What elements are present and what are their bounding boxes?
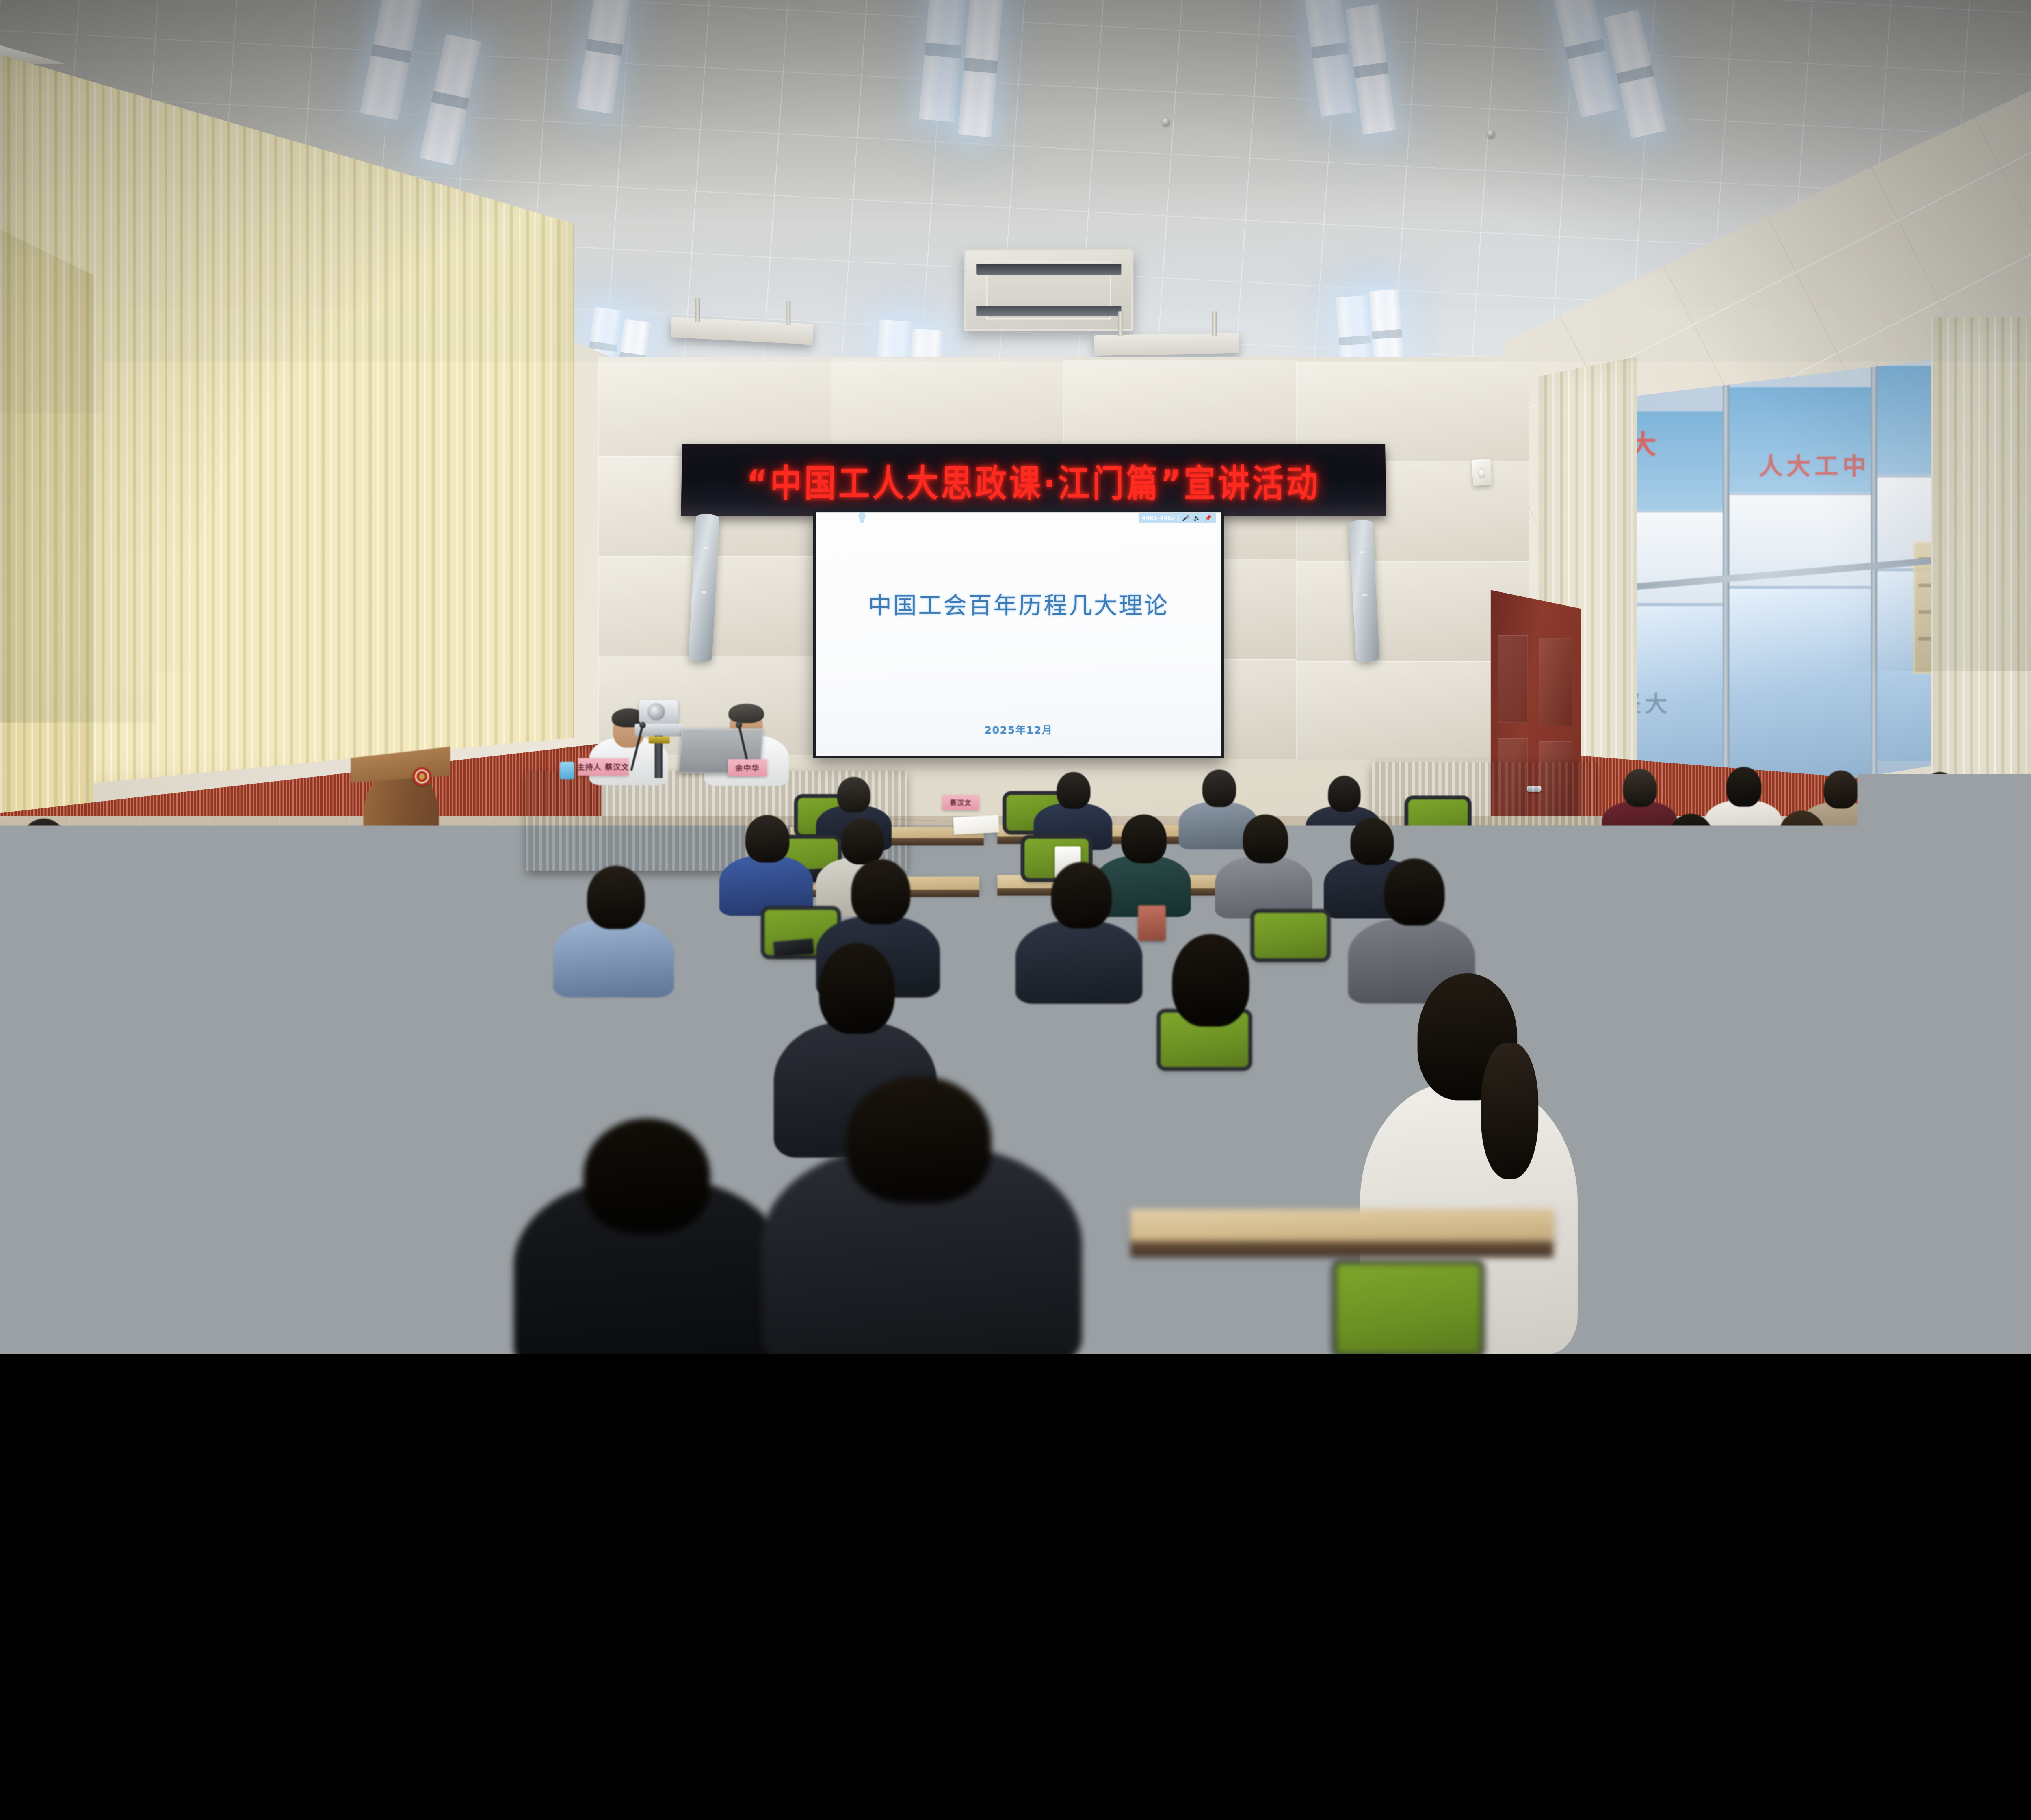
meeting-room-code: 4465-4457 — [1142, 514, 1175, 522]
audience-hair — [1699, 1118, 1838, 1239]
audience-hair — [1328, 776, 1360, 812]
audience-hair — [1623, 769, 1657, 807]
door-panel — [1498, 635, 1528, 723]
audience-hair — [1121, 814, 1167, 863]
window-mullion — [1871, 348, 1877, 819]
audience-hair — [583, 1118, 710, 1233]
audience-hair — [401, 953, 473, 1038]
audience-hair — [1202, 769, 1236, 807]
audience-hair — [1840, 961, 1922, 1064]
lecture-hall-scene: 门大 人大工中 创坚大 “中国工人大思政课·江门篇”宣讲活动 4465-4457… — [0, 0, 2031, 1354]
paper-on-desk — [953, 815, 999, 835]
audience-hair — [1384, 858, 1445, 925]
audience-hair — [819, 943, 894, 1033]
wall-panel — [598, 357, 831, 457]
audience-hair — [1949, 864, 2009, 931]
desk — [0, 1076, 218, 1096]
audience-hair — [837, 777, 870, 812]
water-bottle — [560, 762, 574, 779]
camera-lens-icon — [647, 703, 665, 721]
audience-ponytail — [1481, 1043, 1538, 1179]
audience-hair — [1824, 771, 1858, 809]
audience-body — [0, 918, 103, 995]
audience-hair — [1172, 934, 1249, 1027]
audience-member — [1641, 813, 1737, 914]
paper-on-desk — [190, 940, 248, 961]
wall-panel — [831, 358, 1064, 458]
audience-body — [1015, 921, 1143, 1004]
chair[interactable] — [1693, 913, 1765, 958]
projection-screen: 4465-4457 🎤 🔈 📌 中国工会百年历程几大理论 2025年12月 — [816, 512, 1221, 756]
audience-member-foreground — [762, 1076, 1082, 1354]
meeting-toolbar[interactable]: 4465-4457 🎤 🔈 📌 — [1139, 513, 1216, 523]
window-red-signage-2: 人大工中 — [1759, 447, 1870, 481]
sensor-lens-icon — [1478, 468, 1486, 478]
audience-hair — [587, 866, 645, 929]
audience-hair — [1057, 772, 1090, 809]
audience-hair — [745, 815, 790, 863]
audience-body — [553, 919, 674, 997]
audience-hair — [1778, 811, 1825, 863]
projection-screen-frame: 4465-4457 🎤 🔈 📌 中国工会百年历程几大理论 2025年12月 — [813, 510, 1224, 758]
audience-member — [1215, 813, 1312, 916]
speaker-icon[interactable]: 🔈 — [1193, 515, 1201, 521]
audience-body — [1641, 856, 1737, 917]
tripod-clamp — [649, 737, 670, 744]
presenter-hair — [728, 704, 764, 723]
desk — [1130, 1209, 1554, 1242]
audience-hair — [1051, 862, 1112, 929]
meeting-app-logo-icon — [858, 512, 866, 523]
led-banner-text: “中国工人大思政课·江门篇”宣讲活动 — [747, 453, 1321, 507]
nameplate-speaker: 余中华 — [728, 759, 767, 776]
nameplate-row: 蔡汉文 — [942, 795, 979, 810]
microphone-icon[interactable]: 🎤 — [1182, 515, 1190, 521]
audience-body — [1215, 856, 1312, 918]
audience-member — [1124, 934, 1294, 1152]
audience-member-foreground — [1680, 1118, 2031, 1354]
slide-date: 2025年12月 — [816, 722, 1221, 737]
podium — [351, 747, 450, 877]
pin-icon[interactable]: 📌 — [1204, 515, 1212, 521]
audience-member — [0, 864, 103, 992]
audience-hair — [841, 819, 883, 864]
window-pane — [1729, 589, 1874, 782]
audience-hair — [851, 859, 910, 925]
door-panel — [1539, 638, 1572, 726]
audience-hair — [846, 1076, 991, 1203]
podium-top — [351, 747, 450, 783]
audience-hair — [1923, 772, 1957, 809]
wall-motion-sensor[interactable] — [1472, 459, 1492, 486]
audience-member — [719, 813, 813, 913]
audience-member-foreground — [212, 1100, 484, 1354]
audience-hair — [12, 1155, 133, 1257]
podium-body — [363, 769, 439, 877]
audience-hair — [1243, 814, 1288, 863]
audience-hair — [1914, 814, 1960, 864]
audience-member-foreground — [514, 1118, 786, 1354]
audience-body — [1124, 1016, 1294, 1155]
audience-member-foreground — [0, 1155, 199, 1354]
audience-member — [553, 864, 674, 994]
audience-hair — [1668, 814, 1714, 864]
nameplate-moderator: 主持人 蔡汉文 — [578, 758, 629, 776]
audience-hair — [21, 819, 67, 867]
led-banner: “中国工人大思政课·江门篇”宣讲活动 — [681, 444, 1386, 516]
chair[interactable] — [1336, 1263, 1481, 1354]
podium-emblem-icon — [413, 767, 431, 786]
audience-hair — [1808, 862, 1870, 930]
audience-hair — [281, 1100, 408, 1215]
audience-hair — [1726, 767, 1761, 807]
slide-title: 中国工会百年历程几大理论 — [816, 587, 1221, 620]
window-mullion — [1723, 348, 1729, 819]
audience-member — [1015, 862, 1143, 1001]
audience-hair — [15, 866, 72, 928]
audience-body — [719, 856, 813, 916]
notebook-on-desk — [1499, 936, 1566, 962]
toolbar-divider — [1178, 515, 1179, 521]
chair[interactable] — [157, 843, 221, 883]
audience-hair — [1350, 818, 1394, 865]
desk — [115, 880, 333, 893]
